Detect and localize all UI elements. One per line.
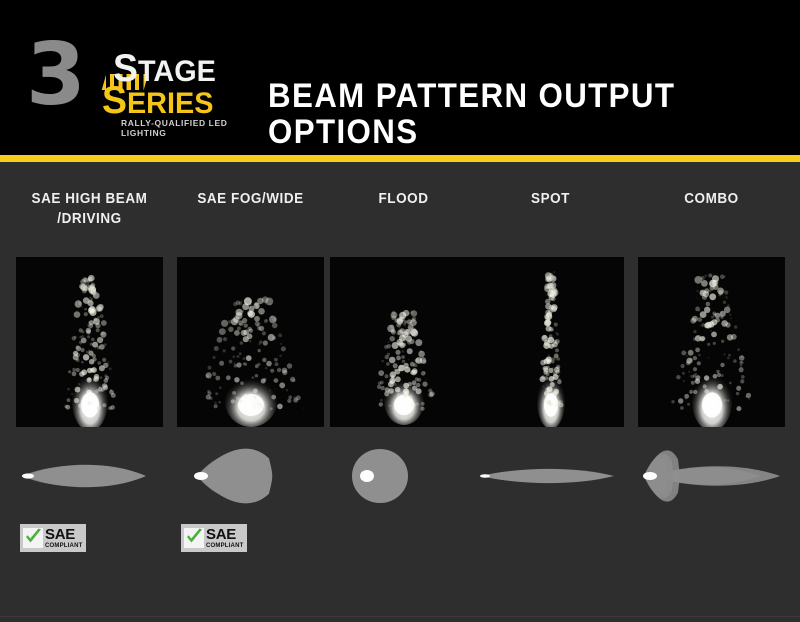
beam-photo-sae-high-beam-driving [16,257,163,427]
beam-diagram-spot [477,445,624,507]
beam-label-fog-wide: SAE FOG/WIDE [182,189,319,209]
header-divider [0,155,800,162]
beam-diagram-flood [330,445,477,507]
sae-compliant-badge: SAECOMPLIANT [20,524,86,552]
beam-label-flood: FLOOD [335,189,472,209]
sae-badge-text: SAECOMPLIANT [45,527,82,549]
header-bar: 3 STAGE SERIES RALLY-QUALIFIED LED LIGHT… [0,0,800,155]
logo-numeral: 3 [26,32,82,118]
beam-label-driving: SAE HIGH BEAM /DRIVING [21,189,158,229]
beam-label-combo: COMBO [643,189,780,209]
sae-badge-title: SAE [206,527,243,542]
green-check-icon [23,528,43,548]
beam-column-fog-wide: SAE FOG/WIDESAECOMPLIANT [177,162,324,582]
page-title: BEAM PATTERN OUTPUT OPTIONS [268,78,757,150]
logo-tagline: RALLY-QUALIFIED LED LIGHTING [121,118,256,138]
sae-compliant-badge: SAECOMPLIANT [181,524,247,552]
footer-divider [0,616,800,617]
beam-column-combo: COMBO [638,162,785,582]
logo-word-series: SERIES [102,86,213,119]
beam-photo-spot [477,257,624,427]
green-check-icon [184,528,204,548]
beam-diagram-driving [16,445,163,507]
sae-badge-subtitle: COMPLIANT [206,543,243,549]
beam-diagram-fog-wide [177,445,324,507]
beam-diagram-combo [638,445,785,507]
beam-label-spot: SPOT [482,189,619,209]
beam-column-driving: SAE HIGH BEAM /DRIVINGSAECOMPLIANT [16,162,163,582]
beam-photo-combo [638,257,785,427]
brand-logo: 3 STAGE SERIES RALLY-QUALIFIED LED LIGHT… [26,30,256,130]
beam-photo-flood [330,257,477,427]
beam-photo-sae-fog-wide [177,257,324,427]
logo-word-stage: STAGE [113,54,216,87]
beam-column-flood: FLOOD [330,162,477,582]
sae-badge-subtitle: COMPLIANT [45,543,82,549]
sae-badge-text: SAECOMPLIANT [206,527,243,549]
sae-badge-title: SAE [45,527,82,542]
beam-column-spot: SPOT [477,162,624,582]
